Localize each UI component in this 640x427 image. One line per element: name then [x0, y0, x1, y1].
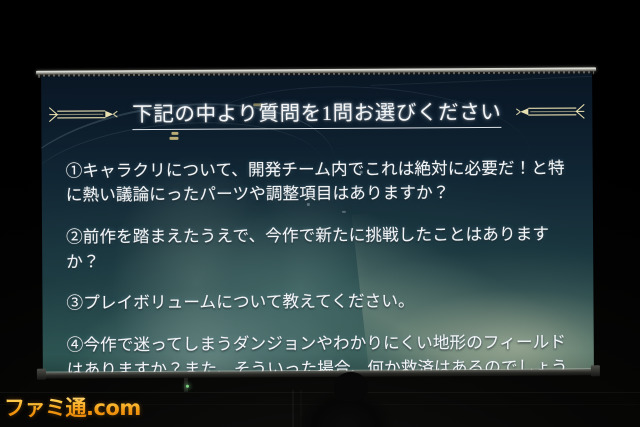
screen-bezel-cap-right: [591, 365, 600, 376]
screen-bezel-cap-left: [37, 369, 46, 380]
question-item-3: ③プレイボリュームについて教えてください。: [66, 289, 577, 317]
slide-title: 下記の中より質問を1問お選びください: [132, 95, 501, 130]
question-item-1: ①キャラクリについて、開発チーム内でこれは絶対に必要だ！と特に熱い議論にったパー…: [66, 156, 577, 209]
ornament-flourish-left-icon: [47, 104, 119, 124]
question-item-2: ②前作を踏まえたうえで、今作で新たに挑戦したことはありますか？: [66, 222, 577, 275]
ornament-flourish-right-icon: [514, 101, 586, 121]
room-post-left: [292, 390, 294, 427]
slide-panel: 下記の中より質問を1問お選びください: [41, 73, 594, 372]
presentation-screen-unit: 下記の中より質問を1問お選びください: [32, 60, 602, 390]
power-led-indicator: [186, 385, 189, 388]
gold-speck-2: [169, 137, 178, 140]
question-list: ①キャラクリについて、開発チーム内でこれは絶対に必要だ！と特に熱い議論にったパー…: [65, 139, 578, 372]
audience-silhouette-head: [334, 372, 368, 402]
room-photo-backdrop: 下記の中より質問を1問お選びください: [0, 0, 640, 427]
question-item-4: ④今作で迷ってしまうダンジョンやわかりにくい地形のフィールドはありますか？また、…: [67, 330, 578, 372]
slide-title-row: 下記の中より質問を1問お選びください: [41, 94, 592, 130]
gold-speck-1: [171, 132, 178, 135]
famitsu-watermark: ファミ通.com: [4, 392, 141, 422]
